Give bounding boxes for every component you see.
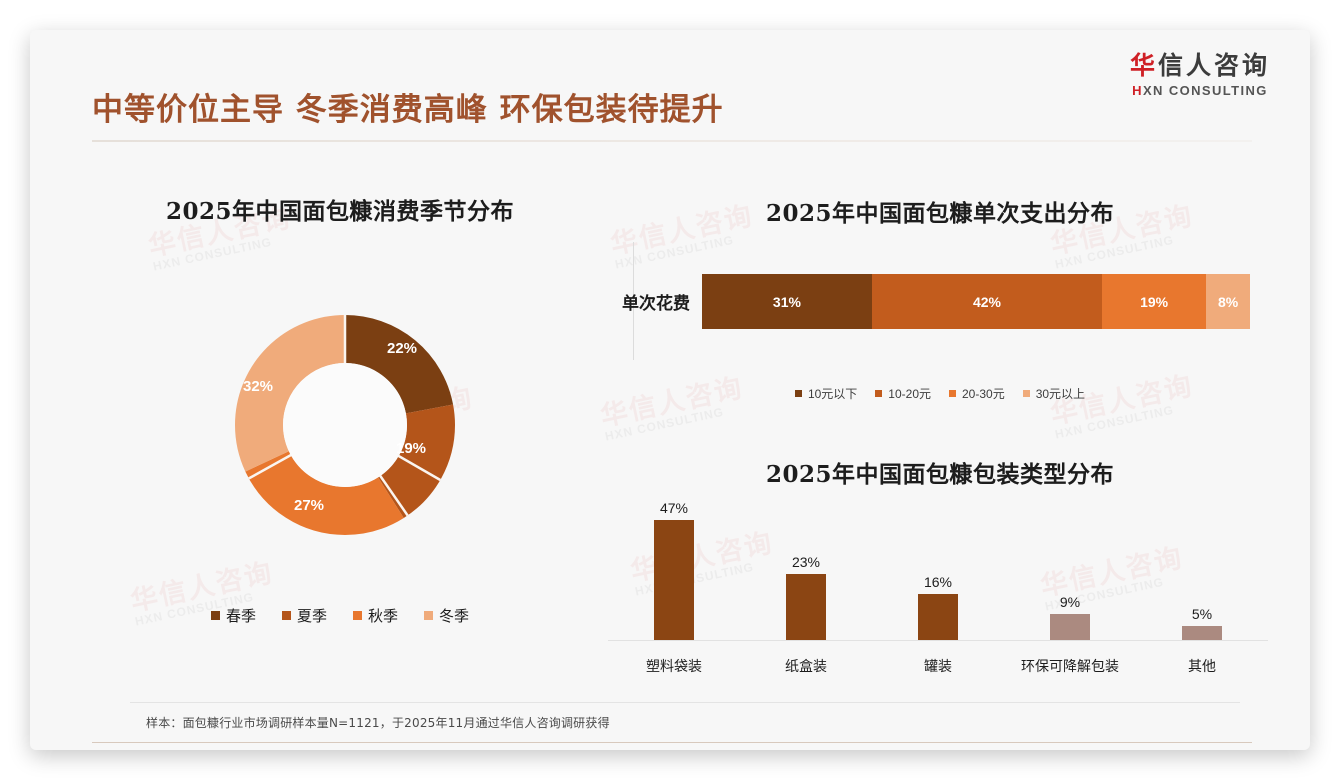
bar-rect [1182,626,1222,640]
bar-category-label: 塑料袋装 [608,656,740,676]
stacked-bar-track: 31% 42% 19% 8% [702,274,1250,329]
bar-category-label: 环保可降解包装 [1004,656,1136,676]
bar-plot-area: 47% 23% 16% 9% 5% [608,503,1268,678]
legend-item-20to30[interactable]: 20-30元 [949,385,1005,402]
brand-logo: 华信人咨询 HXN CONSULTING [1130,52,1270,98]
bar-value-label: 9% [1060,594,1080,610]
legend-item-over30[interactable]: 30元以上 [1023,385,1085,402]
donut-label-winter: 32% [243,378,273,395]
legend-label: 20-30元 [962,385,1005,402]
logo-chinese-rest: 信人咨询 [1158,52,1270,80]
bar-category-label: 罐装 [872,656,1004,676]
chart-package-bars: 2025年中国面包糠包装类型分布 47% 23% 16% 9% [590,445,1290,715]
legend-label: 10元以下 [808,385,857,402]
bar-category-label: 纸盒装 [740,656,872,676]
legend-swatch-icon [795,390,802,397]
legend-swatch-icon [353,611,362,620]
footer-divider [92,742,1252,743]
bar-rect [786,574,826,640]
donut-chart-title: 2025年中国面包糠消费季节分布 [70,192,610,226]
bar-category-axis: 塑料袋装 纸盒装 罐装 环保可降解包装 其他 [608,656,1268,676]
bar-column-other[interactable]: 5% [1136,500,1268,640]
sample-note: 样本：面包糠行业市场调研样本量N=1121，于2025年11月通过华信人咨询调研… [146,714,610,731]
legend-swatch-icon [282,611,291,620]
donut-legend: 春季 夏季 秋季 冬季 [70,605,610,626]
legend-label: 冬季 [439,605,469,626]
bar-column-paperbox[interactable]: 23% [740,500,872,640]
chart-spend-stacked: 2025年中国面包糠单次支出分布 单次花费 31% 42% 19% 8% 10元… [590,180,1290,430]
bar-rect [654,520,694,640]
donut-hole [283,363,407,487]
logo-english: HXN CONSULTING [1130,83,1270,98]
legend-label: 10-20元 [888,385,931,402]
sample-divider [130,702,1240,703]
logo-h-char: H [1132,83,1143,98]
slide-card: 华信人咨询 HXN CONSULTING 华信人咨询 HXN CONSULTIN… [30,30,1310,750]
bar-value-label: 5% [1192,606,1212,622]
stacked-legend: 10元以下 10-20元 20-30元 30元以上 [590,385,1290,402]
slide-header: 中等价位主导 冬季消费高峰 环保包装待提升 华信人咨询 HXN CONSULTI… [30,30,1310,110]
legend-swatch-icon [875,390,882,397]
bar-value-label: 23% [792,554,820,570]
stacked-chart-title: 2025年中国面包糠单次支出分布 [590,194,1290,228]
legend-item-under10[interactable]: 10元以下 [795,385,857,402]
bar-series: 47% 23% 16% 9% 5% [608,500,1268,640]
stacked-seg-over30[interactable]: 8% [1206,274,1250,329]
legend-item-spring[interactable]: 春季 [211,605,256,626]
legend-swatch-icon [1023,390,1030,397]
legend-label: 夏季 [297,605,327,626]
bar-column-biodegradable[interactable]: 9% [1004,500,1136,640]
logo-english-rest: XN CONSULTING [1143,83,1268,98]
donut-label-autumn: 27% [294,497,324,514]
stacked-seg-under10[interactable]: 31% [702,274,872,329]
legend-label: 春季 [226,605,256,626]
donut-label-spring: 22% [387,340,417,357]
legend-label: 秋季 [368,605,398,626]
stacked-plot-area: 单次花费 31% 42% 19% 8% [590,242,1290,362]
legend-swatch-icon [424,611,433,620]
chart-season-donut: 2025年中国面包糠消费季节分布 22% [70,170,610,670]
bar-column-can[interactable]: 16% [872,500,1004,640]
bar-rect [1050,614,1090,640]
bar-value-label: 47% [660,500,688,516]
bar-baseline [608,640,1268,641]
logo-hua-char: 华 [1130,52,1158,80]
header-divider [92,140,1252,142]
legend-label: 30元以上 [1036,385,1085,402]
legend-item-10to20[interactable]: 10-20元 [875,385,931,402]
bar-category-label: 其他 [1136,656,1268,676]
stacked-seg-20to30[interactable]: 19% [1102,274,1206,329]
bar-rect [918,594,958,640]
stacked-bar-row: 单次花费 31% 42% 19% 8% [590,274,1250,329]
legend-item-winter[interactable]: 冬季 [424,605,469,626]
bar-column-plastic[interactable]: 47% [608,500,740,640]
stacked-seg-10to20[interactable]: 42% [872,274,1102,329]
donut-label-summer: 19% [396,440,426,457]
donut-graphic: 22% 19% 27% 32% [195,275,495,575]
bar-value-label: 16% [924,574,952,590]
donut-svg: 22% 19% 27% 32% [195,275,495,575]
logo-chinese: 华信人咨询 [1130,52,1270,81]
legend-swatch-icon [949,390,956,397]
bar-chart-title: 2025年中国面包糠包装类型分布 [590,455,1290,489]
legend-item-summer[interactable]: 夏季 [282,605,327,626]
legend-item-autumn[interactable]: 秋季 [353,605,398,626]
page-title: 中等价位主导 冬季消费高峰 环保包装待提升 [92,84,724,129]
stacked-category-label: 单次花费 [590,289,702,314]
legend-swatch-icon [211,611,220,620]
